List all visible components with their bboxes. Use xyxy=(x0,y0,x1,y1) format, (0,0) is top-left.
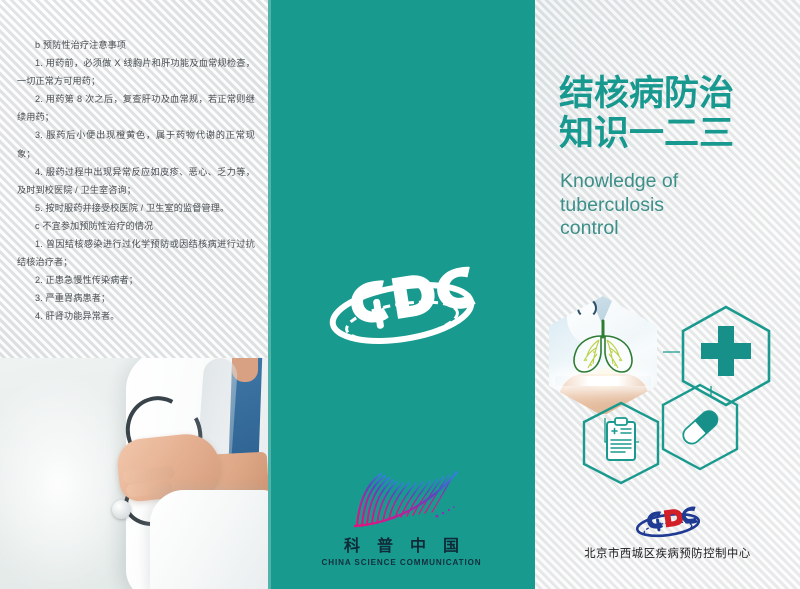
left-text-area: b 预防性治疗注意事项 1. 用药前，必须做 X 线胸片和肝功能及血常规检查，一… xyxy=(0,0,268,358)
coat-sleeve xyxy=(150,490,268,589)
csc-chinese-name: 科普中国 xyxy=(302,538,502,556)
preventive-treatment-body-copy: b 预防性治疗注意事项 1. 用药前，必须做 X 线胸片和肝功能及血常规检查，一… xyxy=(17,36,255,326)
subtitle-line-2: tuberculosis xyxy=(560,194,770,218)
paragraph: c 不宜参加预防性治疗的情况 xyxy=(17,217,255,235)
paragraph: 1. 曾因结核感染进行过化学预防或因结核病进行过抗结核治疗者； xyxy=(17,235,255,271)
paragraph: b 预防性治疗注意事项 xyxy=(17,36,255,54)
csc-wing-icon xyxy=(337,468,467,534)
csc-english-name: CHINA SCIENCE COMMUNICATION xyxy=(302,558,502,567)
page-title-chinese: 结核病防治 知识一二三 xyxy=(559,74,795,154)
paragraph: 4. 肝肾功能异常者。 xyxy=(17,307,255,325)
cdc-logo-icon xyxy=(631,502,705,538)
paragraph: 5. 按时服药并接受校医院 / 卫生室的监督管理。 xyxy=(17,199,255,217)
paragraph: 3. 严重胃病患者； xyxy=(17,289,255,307)
organization-name: 北京市西城区疾病预防控制中心 xyxy=(535,545,800,561)
china-science-communication-logo: 科普中国 CHINA SCIENCE COMMUNICATION xyxy=(302,468,502,567)
paragraph: 3. 服药后小便出现橙黄色，属于药物代谢的正常现象； xyxy=(17,126,255,162)
organization-footer: 北京市西城区疾病预防控制中心 xyxy=(535,502,800,561)
left-panel: b 预防性治疗注意事项 1. 用药前，必须做 X 线胸片和肝功能及血常规检查，一… xyxy=(0,0,268,589)
page-title-english: Knowledge of tuberculosis control xyxy=(560,170,770,241)
title-line-1: 结核病防治 xyxy=(559,74,795,114)
paragraph: 4. 服药过程中出现异常反应如皮疹、恶心、乏力等，及时到校医院 / 卫生室咨询； xyxy=(17,163,255,199)
middle-panel: 科普中国 CHINA SCIENCE COMMUNICATION xyxy=(268,0,535,589)
cdc-watermark-logo xyxy=(317,255,487,355)
paragraph: 1. 用药前，必须做 X 线胸片和肝功能及血常规检查，一切正常方可用药； xyxy=(17,54,255,90)
title-line-2: 知识一二三 xyxy=(559,114,795,154)
doctor-with-stethoscope-photo xyxy=(0,358,268,589)
right-panel: 结核病防治 知识一二三 Knowledge of tuberculosis co… xyxy=(535,0,800,589)
cdc-watermark-icon xyxy=(317,255,487,355)
brochure-page: b 预防性治疗注意事项 1. 用药前，必须做 X 线胸片和肝功能及血常规检查，一… xyxy=(0,0,800,589)
stethoscope-chestpiece xyxy=(112,500,131,519)
subtitle-line-1: Knowledge of xyxy=(560,170,770,194)
paragraph: 2. 正患急慢性传染病者； xyxy=(17,271,255,289)
hexagon-connectors xyxy=(543,296,795,476)
paragraph: 2. 用药第 8 次之后，复查肝功及血常规，若正常则继续用药； xyxy=(17,90,255,126)
hexagon-icon-cluster xyxy=(543,296,795,476)
subtitle-line-3: control xyxy=(560,217,770,241)
